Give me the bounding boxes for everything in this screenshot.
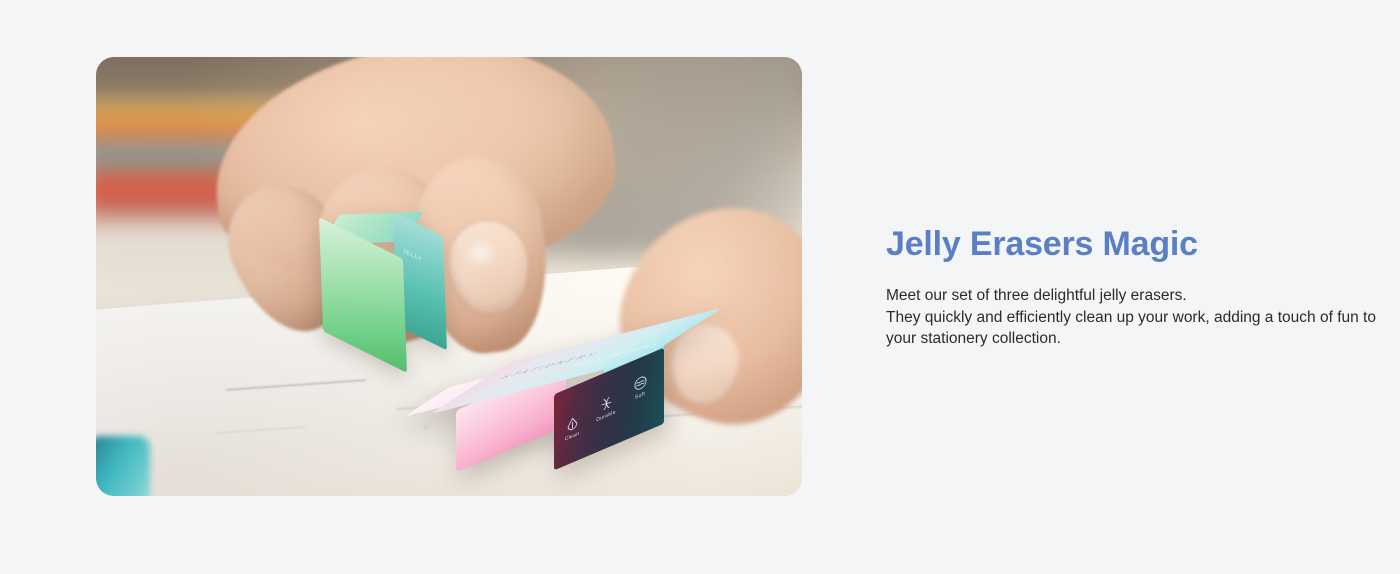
- copy-block: Jelly Erasers Magic Meet our set of thre…: [886, 222, 1376, 350]
- description-line-1: Meet our set of three delightful jelly e…: [886, 285, 1376, 307]
- photo-scene: JELLY STATIONERY JELLY ERASERS: [96, 57, 802, 496]
- description: Meet our set of three delightful jelly e…: [886, 285, 1376, 350]
- hero-image-card: JELLY STATIONERY JELLY ERASERS: [96, 57, 802, 496]
- page-root: JELLY STATIONERY JELLY ERASERS: [0, 0, 1400, 574]
- eraser-pack: STATIONERY JELLY ERASERS Clean: [456, 351, 681, 461]
- feature-soft: Soft: [625, 369, 655, 405]
- pack-top-caption: STATIONERY: [497, 351, 601, 381]
- feature-durable: Durable: [591, 390, 621, 426]
- green-eraser: JELLY: [321, 225, 439, 325]
- page-title: Jelly Erasers Magic: [886, 222, 1376, 266]
- teal-eraser-foreground: [96, 436, 150, 496]
- description-line-2: They quickly and efficiently clean up yo…: [886, 307, 1376, 350]
- feature-clean: Clean: [557, 410, 587, 446]
